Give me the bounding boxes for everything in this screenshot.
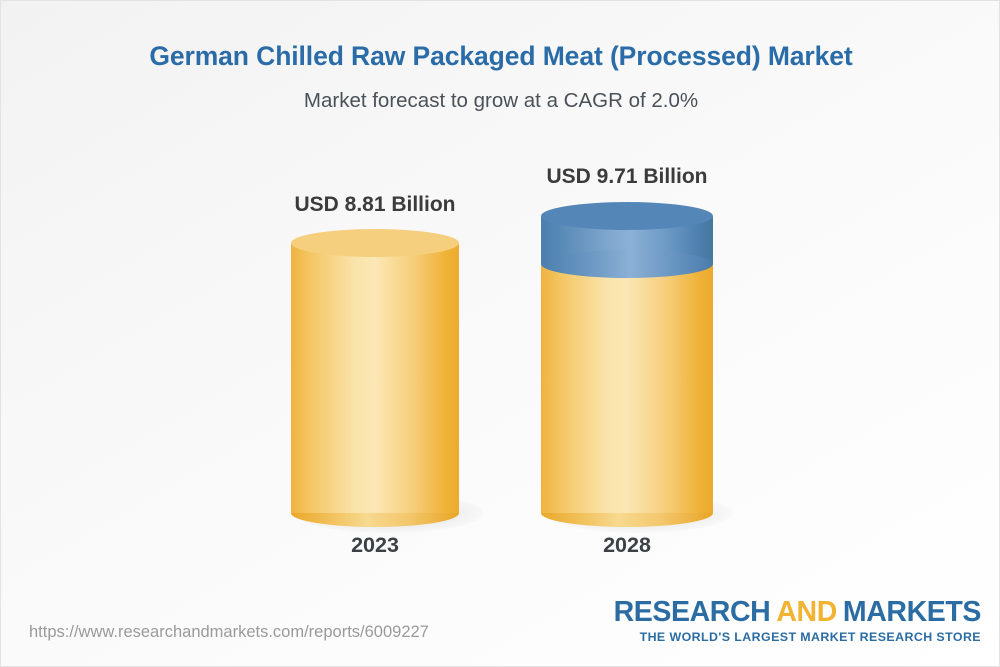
cylinder-body-gold-2023 <box>291 243 459 513</box>
plot-area: USD 8.81 Billion 2023 USD 9.71 Billion <box>1 1 1000 601</box>
logo-word-research: RESEARCH <box>614 596 771 628</box>
value-label-2023: USD 8.81 Billion <box>245 193 505 217</box>
logo-word-and: AND <box>776 596 837 628</box>
value-label-2028: USD 9.71 Billion <box>497 165 757 189</box>
category-label-2023: 2023 <box>245 533 505 558</box>
logo-wordmark: RESEARCHANDMARKETS <box>614 598 981 628</box>
cylinder-body-gold-2028 <box>541 264 713 513</box>
cylinder-2028 <box>541 202 713 513</box>
source-url[interactable]: https://www.researchandmarkets.com/repor… <box>29 623 429 642</box>
chart-canvas: German Chilled Raw Packaged Meat (Proces… <box>0 0 1000 667</box>
cylinder-2023 <box>291 229 459 513</box>
category-label-2028: 2028 <box>497 533 757 558</box>
cylinder-top-ellipse-2023 <box>291 229 459 257</box>
logo-tagline: THE WORLD'S LARGEST MARKET RESEARCH STOR… <box>614 630 981 644</box>
cylinder-segment-divider-2028 <box>541 250 713 278</box>
research-and-markets-logo[interactable]: RESEARCHANDMARKETS THE WORLD'S LARGEST M… <box>614 598 981 644</box>
cylinder-top-ellipse-2028 <box>541 202 713 230</box>
logo-word-markets: MARKETS <box>843 596 981 628</box>
